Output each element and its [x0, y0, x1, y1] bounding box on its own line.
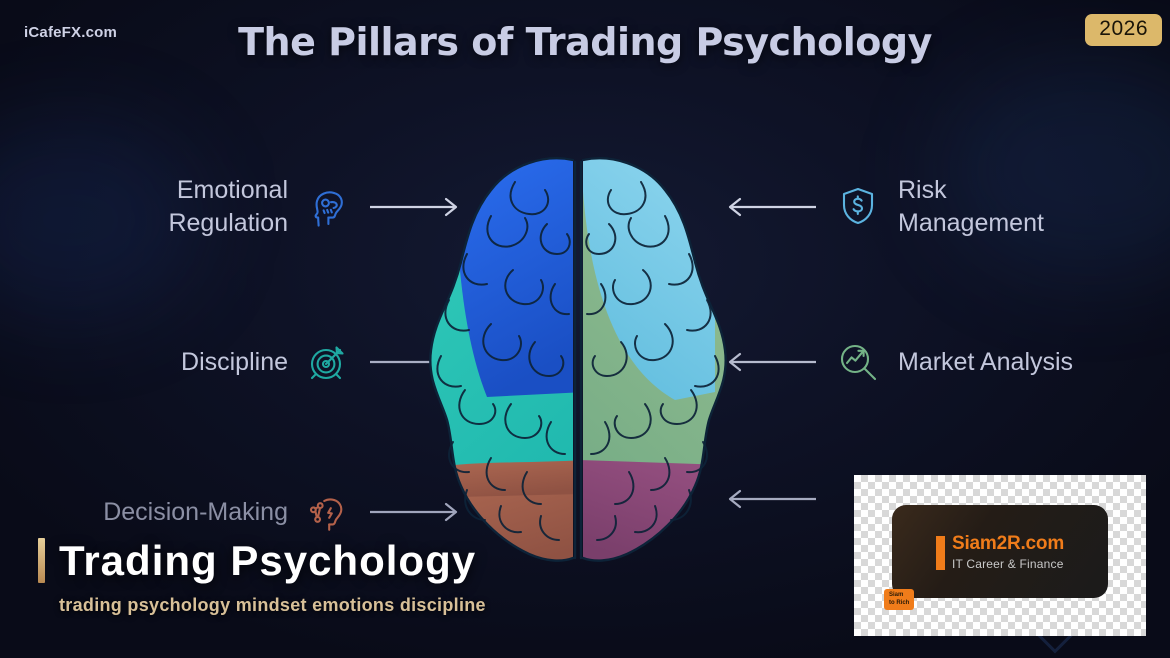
overlay-keywords: trading psychology mindset emotions disc… — [59, 595, 486, 616]
promo-badge: Siam to Rich — [884, 589, 914, 610]
year-badge: 2026 — [1085, 14, 1162, 46]
infographic-canvas: iCafeFX.com The Pillars of Trading Psych… — [0, 0, 1170, 658]
promo-card[interactable]: Siam2R.com IT Career & Finance — [892, 505, 1108, 598]
pillar-label: Emotional Regulation — [168, 174, 288, 240]
promo-brand: Siam2R.com — [952, 534, 1064, 555]
promo-overlay-panel[interactable]: Siam2R.com IT Career & Finance Siam to R… — [854, 475, 1146, 636]
promo-tagline: IT Career & Finance — [952, 557, 1064, 571]
head-network-icon — [304, 488, 352, 536]
background-glow-right — [940, 60, 1170, 280]
shield-dollar-icon — [834, 183, 882, 231]
pillar-label: Decision-Making — [103, 496, 288, 529]
brain-left-hemisphere — [395, 142, 585, 572]
target-arrow-icon — [304, 338, 352, 386]
page-title: The Pillars of Trading Psychology — [0, 20, 1170, 64]
pillar-label: Market Analysis — [898, 346, 1073, 379]
pillar-label: Risk Management — [898, 174, 1044, 240]
accent-bar — [38, 538, 45, 583]
promo-accent-tick-icon — [936, 536, 945, 570]
overlay-caption-block: Trading Psychology trading psychology mi… — [38, 538, 486, 616]
overlay-heading: Trading Psychology — [59, 538, 476, 583]
head-mind-icon — [304, 183, 352, 231]
brain-illustration — [395, 142, 775, 572]
magnifier-trend-icon — [834, 338, 882, 386]
pillar-label: Discipline — [181, 346, 288, 379]
